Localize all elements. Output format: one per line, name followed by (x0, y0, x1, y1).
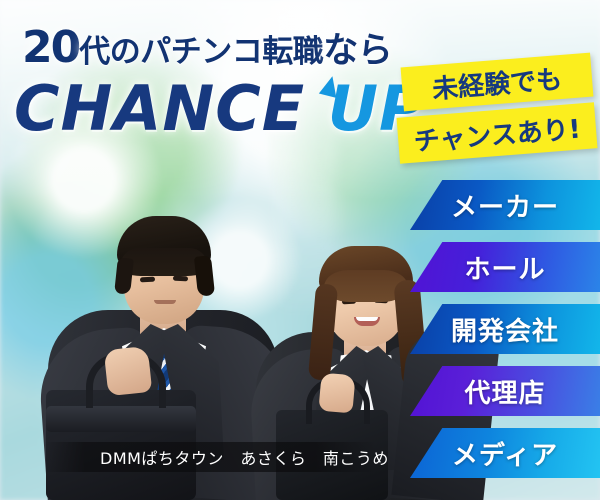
category-label-media: メディア (452, 435, 558, 472)
man-hand (104, 346, 153, 396)
caption-text: DMMぱちタウン あさくら 南こうめ (45, 445, 389, 469)
man-eye-left (140, 277, 155, 283)
headline-rest: 代のパチンコ転職 (79, 34, 323, 70)
headline-number: 20 (22, 22, 79, 73)
category-button-developer[interactable]: 開発会社 (410, 304, 600, 354)
category-label-maker: メーカー (451, 187, 559, 224)
badge-1-label: 未経験でも (431, 58, 564, 105)
logo-main-word: CHANCE (14, 72, 328, 145)
category-button-media[interactable]: メディア (410, 428, 600, 478)
man-hair-side-right (194, 255, 215, 297)
category-button-maker[interactable]: メーカー (410, 180, 600, 230)
recruitment-banner: 20代のパチンコ転職なら CHANCE UP 未経験でも チャンスあり! メーカ… (0, 0, 600, 500)
man-mouth (154, 300, 176, 304)
category-label-agency: 代理店 (464, 373, 545, 410)
category-label-developer: 開発会社 (451, 311, 559, 348)
category-button-hall[interactable]: ホール (410, 242, 600, 292)
category-label-hall: ホール (464, 249, 545, 286)
caption-bar: DMMぱちタウン あさくら 南こうめ (45, 442, 375, 472)
logo-chance-up: CHANCE UP (14, 72, 426, 145)
headline-text: 20代のパチンコ転職なら (22, 22, 392, 73)
woman-hand (318, 373, 355, 414)
woman-teeth (356, 317, 378, 321)
category-list: メーカー ホール 開発会社 代理店 メディア (410, 180, 600, 490)
badge-2-label: チャンスあり! (412, 108, 581, 158)
briefcase-man-flap (46, 406, 196, 432)
headline-tail: なら (323, 31, 392, 71)
category-button-agency[interactable]: 代理店 (410, 366, 600, 416)
man-eye-right (173, 276, 188, 282)
